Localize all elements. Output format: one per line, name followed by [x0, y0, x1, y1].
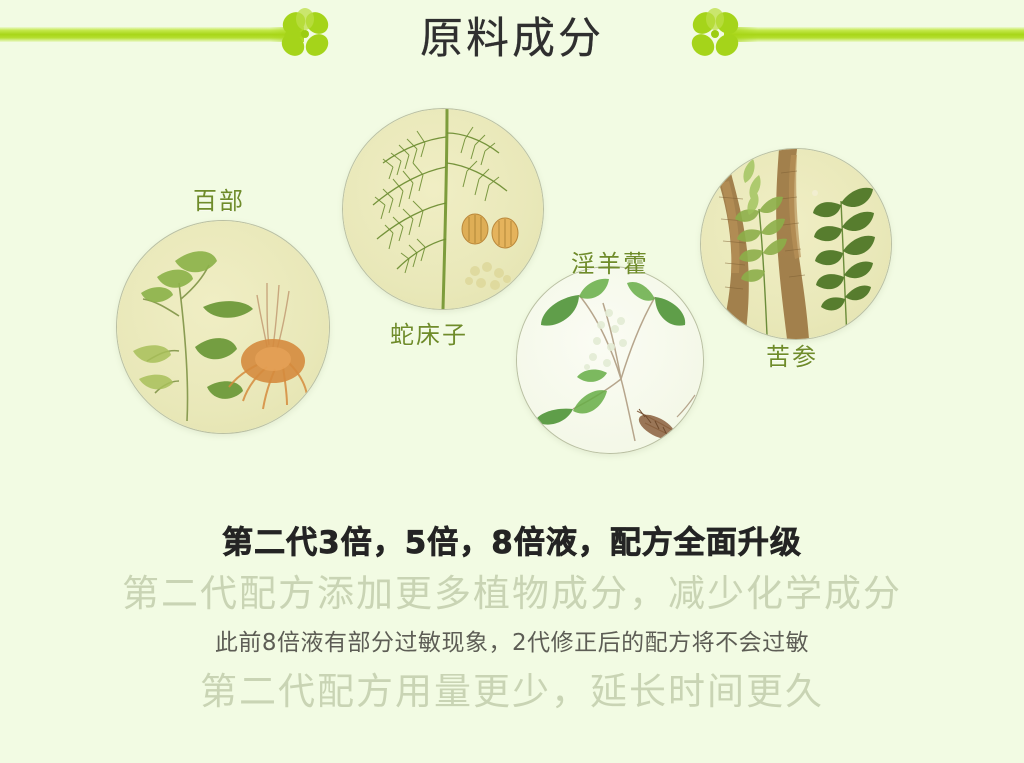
copy-line-secondary: 第二代配方添加更多植物成分，减少化学成分 [0, 566, 1024, 622]
promo-page: 原料成分 [0, 0, 1024, 763]
ingredient-illustration-ku-shen [700, 148, 892, 340]
copy-line-tertiary: 第二代配方用量更少，延长时间更久 [0, 664, 1024, 720]
ingredient-illustration-bai-bu [116, 220, 330, 434]
ingredient-label: 蛇床子 [390, 315, 468, 350]
page-title: 原料成分 [0, 4, 1024, 66]
page-header: 原料成分 [0, 0, 1024, 68]
copy-line-detail: 此前8倍液有部分过敏现象，2代修正后的配方将不会过敏 [0, 622, 1024, 664]
ingredient-label: 百部 [193, 181, 245, 216]
copy-line-headline: 第二代3倍，5倍，8倍液，配方全面升级 [0, 520, 1024, 566]
ingredient-gallery: 百部 [0, 68, 1024, 488]
promo-copy: 第二代3倍，5倍，8倍液，配方全面升级 第二代配方添加更多植物成分，减少化学成分… [0, 520, 1024, 720]
ingredient-illustration-she-chuang-zi [342, 108, 544, 310]
ingredient-illustration-yin-yang-huo [516, 266, 704, 454]
ingredient-label: 苦参 [766, 337, 818, 372]
ingredient-label: 淫羊藿 [571, 244, 649, 279]
